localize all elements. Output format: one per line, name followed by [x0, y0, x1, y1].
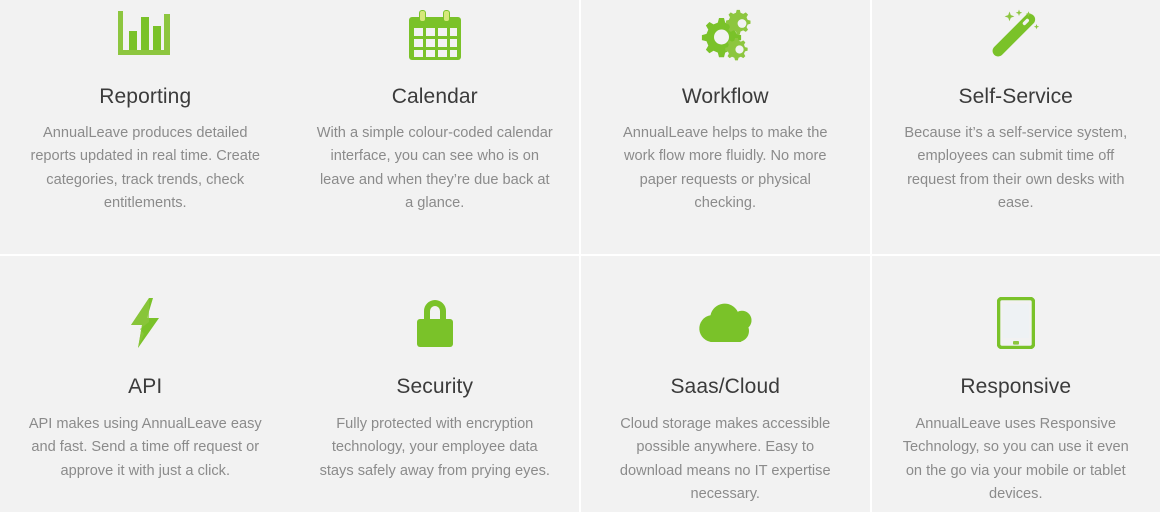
feature-card-security[interactable]: Security Fully protected with encryption… [291, 256, 582, 512]
feature-title: Workflow [682, 84, 769, 110]
gears-icon [697, 4, 753, 66]
lightning-bolt-icon [127, 292, 163, 354]
feature-card-self-service[interactable]: Self-Service Because it’s a self-service… [872, 0, 1162, 256]
feature-description: AnnualLeave produces detailed reports up… [26, 122, 265, 215]
cloud-icon [695, 292, 755, 354]
magic-wand-icon [988, 4, 1044, 66]
feature-description: AnnualLeave uses Responsive Technology, … [898, 413, 1135, 506]
feature-card-api[interactable]: API API makes using AnnualLeave easy and… [0, 256, 291, 512]
feature-description: AnnualLeave helps to make the work flow … [607, 122, 844, 215]
feature-title: Reporting [99, 84, 191, 110]
feature-card-workflow[interactable]: Workflow AnnualLeave helps to make the w… [581, 0, 872, 256]
padlock-icon [413, 292, 457, 354]
feature-card-reporting[interactable]: Reporting AnnualLeave produces detailed … [0, 0, 291, 256]
feature-card-saas-cloud[interactable]: Saas/Cloud Cloud storage makes accessibl… [581, 256, 872, 512]
feature-description: With a simple colour-coded calendar inte… [317, 122, 554, 215]
feature-description: Because it’s a self-service system, empl… [898, 122, 1135, 215]
feature-title: Self-Service [959, 84, 1073, 110]
calendar-icon [409, 4, 461, 66]
feature-description: Fully protected with encryption technolo… [317, 413, 554, 483]
feature-description: Cloud storage makes accessible possible … [607, 413, 844, 506]
feature-title: Calendar [392, 84, 478, 110]
bar-chart-icon [116, 4, 174, 66]
feature-title: Saas/Cloud [670, 374, 780, 400]
feature-card-responsive[interactable]: Responsive AnnualLeave uses Responsive T… [872, 256, 1162, 512]
tablet-icon [997, 292, 1035, 354]
features-grid: Reporting AnnualLeave produces detailed … [0, 0, 1162, 512]
feature-title: Security [396, 374, 473, 400]
feature-title: API [128, 374, 162, 400]
feature-description: API makes using AnnualLeave easy and fas… [26, 413, 265, 483]
feature-card-calendar[interactable]: Calendar With a simple colour-coded cale… [291, 0, 582, 256]
feature-title: Responsive [960, 374, 1071, 400]
